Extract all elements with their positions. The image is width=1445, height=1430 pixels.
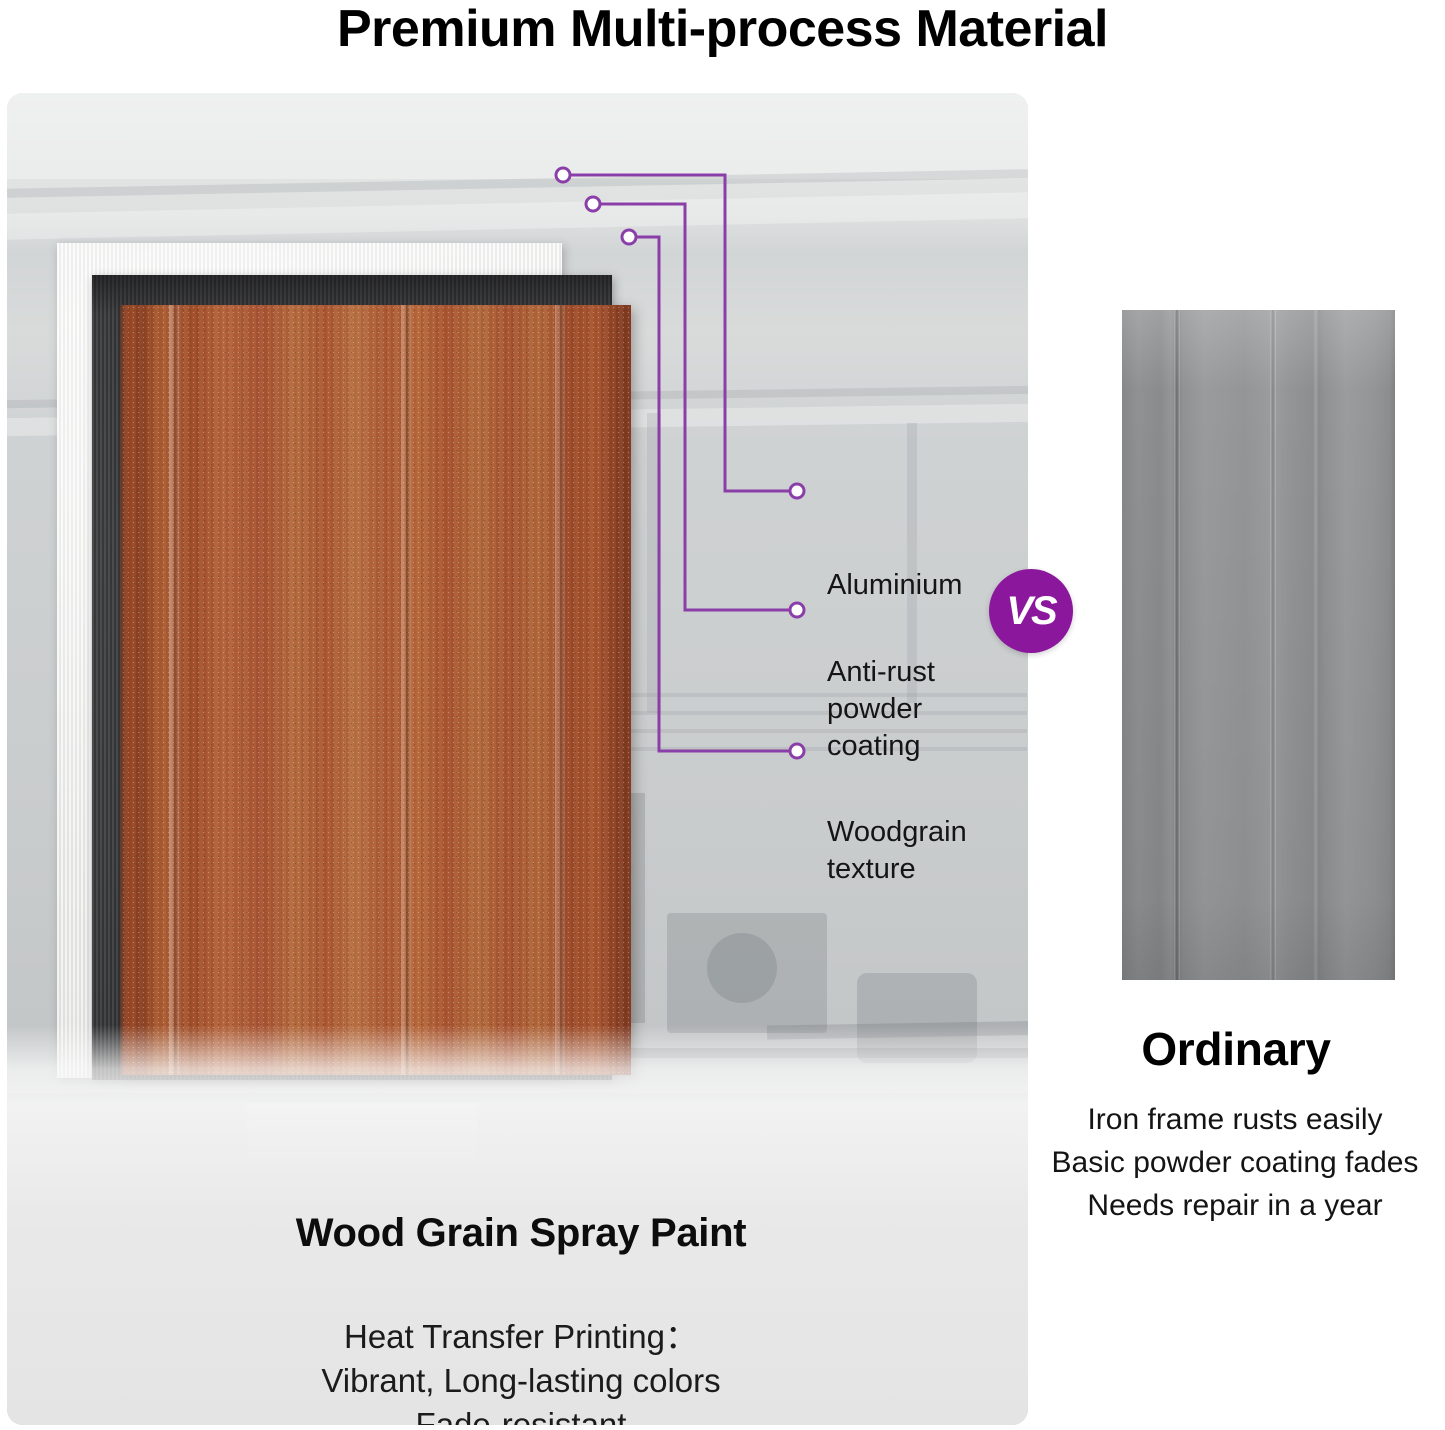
woodgrain-layer-panel	[121, 305, 631, 1075]
premium-product-card: Aluminium Anti-rust powder coating Woodg…	[7, 93, 1028, 1425]
left-body-line: Heat Transfer Printing：	[7, 1315, 1028, 1359]
left-heading: Wood Grain Spray Paint	[7, 1211, 1028, 1256]
callout-label-aluminium: Aluminium	[827, 567, 962, 604]
ordinary-body-text: Iron frame rusts easily Basic powder coa…	[1026, 1098, 1444, 1227]
ordinary-body-line: Basic powder coating fades	[1026, 1141, 1444, 1184]
ordinary-body-line: Iron frame rusts easily	[1026, 1098, 1444, 1141]
wood-seam-line	[555, 305, 565, 1075]
vs-badge: VS	[989, 569, 1073, 653]
wood-seam-line	[401, 305, 411, 1075]
left-body-line: Fade-resistant	[7, 1403, 1028, 1425]
ordinary-panel-image	[1122, 310, 1395, 980]
vs-badge-label: VS	[1006, 591, 1055, 631]
ordinary-body-line: Needs repair in a year	[1026, 1184, 1444, 1227]
ordinary-heading: Ordinary	[1036, 1022, 1436, 1076]
left-body-line: Vibrant, Long-lasting colors	[7, 1359, 1028, 1403]
ordinary-seam-line	[1270, 310, 1276, 980]
callout-label-powder-coating: Anti-rust powder coating	[827, 654, 935, 765]
wood-seam-line	[169, 305, 179, 1075]
page-title: Premium Multi-process Material	[0, 0, 1445, 60]
callout-label-woodgrain: Woodgrain texture	[827, 814, 967, 888]
ordinary-seam-line	[1174, 310, 1180, 980]
left-body-text: Heat Transfer Printing： Vibrant, Long-la…	[7, 1315, 1028, 1425]
